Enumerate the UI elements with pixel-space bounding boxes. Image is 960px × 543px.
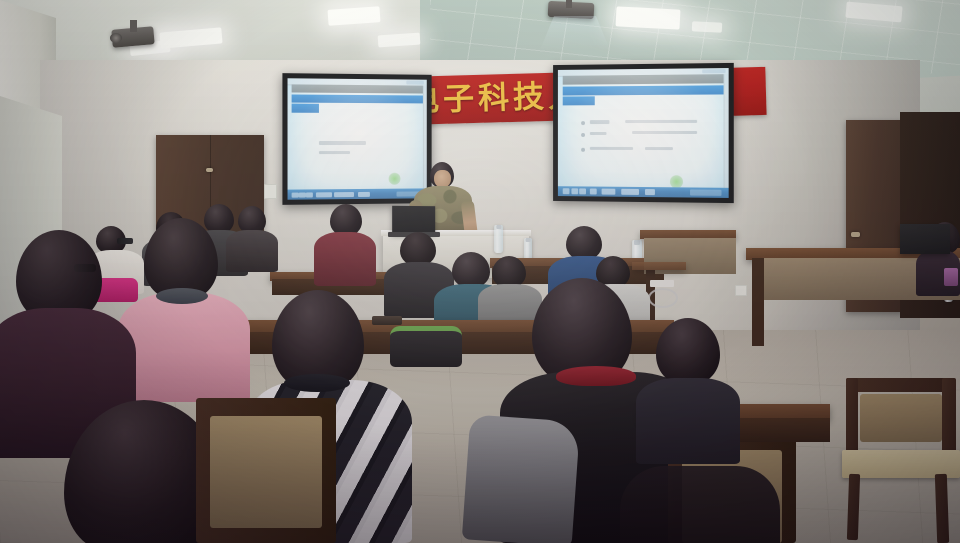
- window-controls: [702, 69, 725, 73]
- slide-text-line: [625, 119, 697, 122]
- empty-chair-leg-front: [847, 474, 860, 540]
- striped-shirt-collar: [284, 374, 350, 392]
- glasses-icon: [117, 238, 133, 244]
- pink-shirt-collar: [156, 288, 208, 304]
- presenter-laptop[interactable]: [392, 206, 435, 234]
- windows-taskbar: [288, 189, 427, 200]
- projection-screen-left: [282, 73, 431, 205]
- purple-cup[interactable]: [944, 268, 958, 286]
- audience-head-right-front: [656, 318, 720, 384]
- phone-on-desk[interactable]: [372, 316, 402, 325]
- ceiling-light-panel: [616, 6, 681, 29]
- app-tag-chip: [563, 96, 595, 105]
- window-controls: [406, 81, 424, 85]
- power-strip: [650, 280, 674, 287]
- audience-torso-right-front: [636, 378, 740, 464]
- ceiling-light-panel: [692, 21, 722, 33]
- slide-text-line: [645, 147, 672, 150]
- app-selected-row: [563, 85, 724, 95]
- desk-right-leg: [752, 258, 764, 346]
- empty-chair-back-left-post: [846, 378, 858, 460]
- wall-switch-plate[interactable]: [264, 184, 277, 199]
- app-toolbar-row: [563, 75, 724, 85]
- app-tag-chip: [292, 104, 319, 113]
- green-backpack: [390, 326, 462, 367]
- empty-chair-backrest[interactable]: [846, 378, 954, 392]
- wall-outlet-plate[interactable]: [735, 285, 747, 296]
- projector-mount-right: [566, 0, 572, 8]
- lecture-hall-photo: 电子科技人: [0, 0, 960, 543]
- water-bottle[interactable]: [494, 225, 503, 253]
- grey-jacket: [462, 414, 580, 543]
- screen-scrollbar: [724, 75, 729, 188]
- glasses-icon: [74, 264, 96, 272]
- cable-bundle: [648, 288, 678, 308]
- audience-torso-maroon: [314, 232, 376, 286]
- cursor-highlight: [388, 172, 400, 184]
- windows-taskbar: [558, 186, 729, 198]
- laptop-right-desk[interactable]: [900, 224, 950, 254]
- desk-left-far: [632, 262, 686, 270]
- slide-text-line: [590, 120, 610, 123]
- screen-scrollbar: [423, 86, 427, 189]
- slide-text-line: [319, 141, 367, 144]
- slide-text-line: [632, 131, 697, 134]
- chair-front-left-cushion: [210, 416, 322, 528]
- empty-chair-leg-back: [935, 474, 949, 543]
- slide-text-line: [319, 151, 350, 154]
- audience-head: [452, 252, 490, 288]
- projector-mount-left: [130, 20, 137, 32]
- screen-left-content: [288, 78, 427, 199]
- app-toolbar-row: [292, 84, 423, 94]
- empty-chair-back-cushion: [860, 394, 942, 442]
- taskbar-clock: [690, 189, 721, 195]
- slide-text-line: [590, 147, 634, 150]
- screen-right-content: [558, 68, 729, 198]
- app-selected-row: [292, 94, 423, 103]
- foreground-silhouette-right: [620, 466, 780, 543]
- door-right-handle[interactable]: [851, 232, 860, 237]
- audience-torso-pink-shirt: [118, 292, 250, 402]
- red-collar: [556, 366, 636, 386]
- projection-screen-right: [553, 63, 734, 203]
- audience-torso: [226, 230, 278, 272]
- slide-text-line: [590, 132, 607, 135]
- door-left-handle[interactable]: [206, 168, 213, 172]
- audience-head: [566, 226, 602, 260]
- projector-lens-left: [110, 33, 122, 43]
- audience-head: [400, 232, 436, 266]
